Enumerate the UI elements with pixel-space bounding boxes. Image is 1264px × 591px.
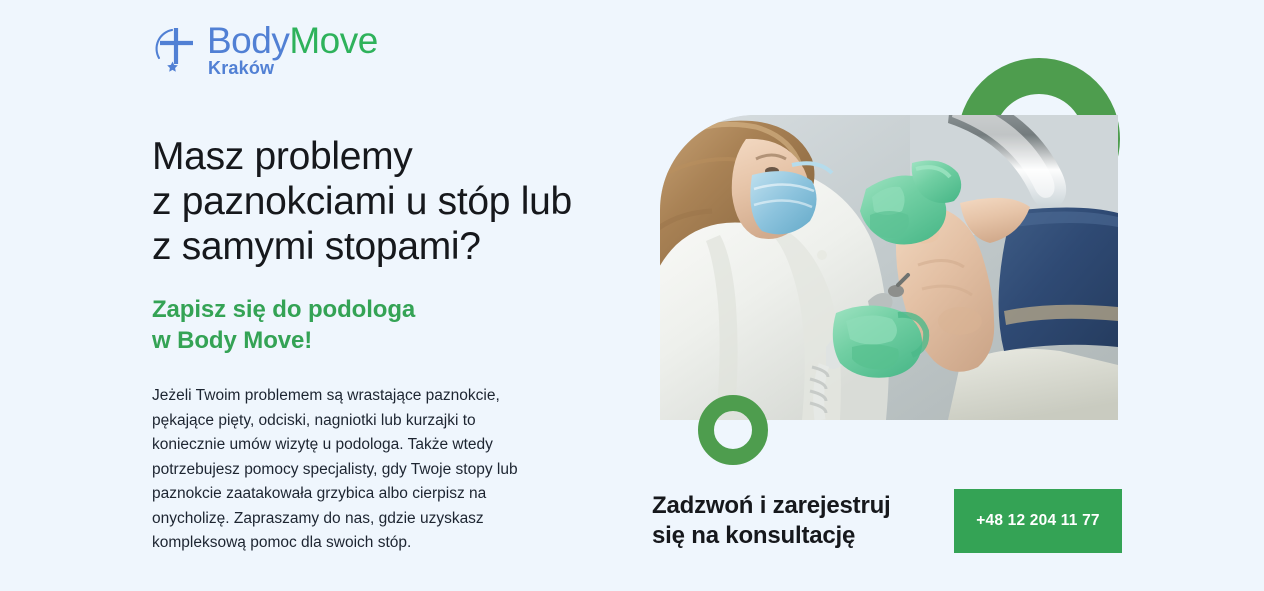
hero-media xyxy=(640,50,1140,450)
cta-line-1: Zadzwoń i zarejestruj xyxy=(652,491,891,521)
logo-wordmark: BodyMove Kraków xyxy=(207,22,378,77)
hero-copy-column: Masz problemy z paznokciami u stóp lub z… xyxy=(152,134,592,556)
headline-line-3: z samymi stopami? xyxy=(152,224,592,269)
call-to-action: Zadzwoń i zarejestruj się na konsultację… xyxy=(652,486,1122,556)
subheadline-line-2: w Body Move! xyxy=(152,325,592,356)
cta-heading: Zadzwoń i zarejestruj się na konsultację xyxy=(652,491,891,551)
page-subtitle: Zapisz się do podologa w Body Move! xyxy=(152,294,592,356)
logo-word-body: Body xyxy=(207,20,289,61)
logo-city-label: Kraków xyxy=(208,59,378,77)
headline-line-1: Masz problemy xyxy=(152,134,592,179)
podiatrist-treating-foot-photo xyxy=(660,115,1118,420)
subheadline-line-1: Zapisz się do podologa xyxy=(152,294,592,325)
cta-line-2: się na konsultację xyxy=(652,521,891,551)
page-title: Masz problemy z paznokciami u stóp lub z… xyxy=(152,134,592,269)
headline-line-2: z paznokciami u stóp lub xyxy=(152,179,592,224)
hero-paragraph: Jeżeli Twoim problemem są wrastające paz… xyxy=(152,384,524,556)
logo-word-move: Move xyxy=(289,20,377,61)
hero-section: BodyMove Kraków Masz problemy z paznokci… xyxy=(0,0,1264,591)
site-logo[interactable]: BodyMove Kraków xyxy=(152,22,378,77)
phone-call-button[interactable]: +48 12 204 11 77 xyxy=(954,489,1122,553)
green-ring-small-decoration xyxy=(698,395,768,465)
medical-cross-with-arc-and-star-icon xyxy=(152,24,198,74)
